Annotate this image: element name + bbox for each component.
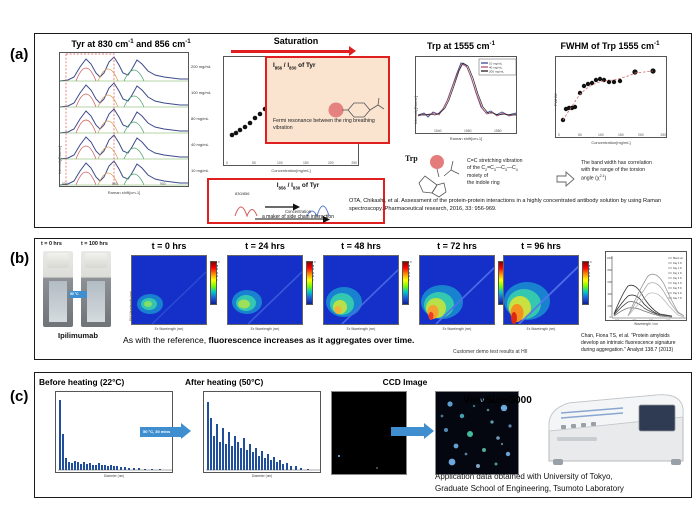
svg-text:500: 500 — [649, 319, 654, 322]
heatmap-1 — [227, 255, 303, 325]
panel-b: t = 0 hrs t = 100 hrs 50 °C Ipilimumab t… — [34, 238, 692, 360]
attribution-line-1: Application data obtained with Universit… — [435, 471, 689, 483]
heatmap-ylabel-0: EM Wavelength (nm) — [129, 291, 133, 321]
side-chain-caption: a maker of side chain interaction — [209, 214, 387, 220]
trp-spectra-title: Trp at 1555 cm-1 — [401, 40, 521, 51]
fermi-resonance-callout: I856 / I830 of Tyr Fermi resonance betwe… — [265, 56, 390, 144]
histogram-after-svg: 0100200 300400500 700900 — [204, 392, 321, 473]
tyr-spectra-xlabel: Raman shift[cm-1] — [59, 190, 189, 195]
fermi-callout-title: I856 / I830 of Tyr — [273, 62, 315, 70]
panel-b-caption: As with the reference, fluorescence incr… — [123, 335, 523, 345]
heatmap-svg-3 — [420, 256, 495, 325]
heatmap-xlabel-3: Ex Wavelength (nm) — [419, 327, 495, 331]
colorbar-ticks-0: 1.0.8.6.4.20 — [216, 261, 220, 282]
svg-text:400: 400 — [262, 472, 267, 473]
panel-label-b: (b) — [10, 250, 29, 267]
svg-text:700: 700 — [142, 472, 147, 473]
vial-after — [81, 251, 111, 327]
heatmap-4 — [503, 255, 579, 325]
heatmap-xlabel-4: Ex Wavelength (nm) — [503, 327, 579, 331]
svg-text:Blank sol.: Blank sol. — [673, 257, 684, 260]
tyr-spectra-svg — [60, 53, 189, 187]
panel-a-citation: OTA, Chikashi, et al. Assessment of the … — [349, 198, 685, 213]
implies-arrow-icon — [557, 172, 575, 186]
histogram-after-xlabel: Diameter (nm) — [203, 474, 321, 478]
demo-note: Customer demo test results at HII — [453, 349, 527, 355]
tyr-spectra-plot: 800 850 900 — [59, 52, 189, 187]
attribution-line-2: Graduate School of Engineering, Tsumoto … — [435, 483, 689, 495]
fluorescence-inset-plot: Blank sol. Day 0 hr Day 1 hr Day 2 hr Da… — [605, 251, 687, 321]
vial-liquid-after — [87, 281, 105, 322]
heatmap-title-3: t = 72 hrs — [417, 241, 497, 251]
vial-arrow-label: 50 °C — [70, 292, 79, 296]
tyrosine-structure-icon — [326, 92, 386, 126]
panel-b-reference: Chan, Fiona TS, et al. "Protein amyloids… — [581, 333, 687, 353]
ccd-arrow-tip — [424, 423, 434, 439]
after-heating-title: After heating (50°C) — [185, 377, 325, 387]
tyr-spectra-ylabel: Intensity[Norm.] — [57, 146, 62, 174]
svg-text:900: 900 — [160, 472, 165, 473]
panel-label-a: (a) — [10, 46, 28, 63]
side-chain-callout-title: I856 / I830 of Tyr — [209, 182, 387, 190]
tyr-trace-label-1: 100 mg/mL — [191, 90, 211, 95]
heatmap-title-1: t = 24 hrs — [225, 241, 305, 251]
panel-label-c: (c) — [10, 388, 28, 405]
panel-a: Tyr at 830 cm-1 and 856 cm-1 — [34, 33, 692, 228]
heating-arrow-tip — [181, 423, 191, 439]
fluorescence-inset-xlabel: Wavelength / nm — [605, 322, 687, 326]
heatmap-2 — [323, 255, 399, 325]
svg-text:200: 200 — [86, 472, 91, 473]
trp-spectra-plot: 10 mg/mL 40 mg/mL 200 mg/mL 1.0 0.5 0.0 … — [415, 56, 517, 134]
svg-text:Day 3 hr: Day 3 hr — [673, 277, 682, 280]
panel-c: Before heating (22°C) — [34, 372, 692, 498]
svg-text:900: 900 — [308, 472, 313, 473]
figure-root: (a) Tyr at 830 cm-1 and 856 cm-1 — [0, 0, 700, 525]
colorbar-ticks-1: 1.0.8.6.4.20 — [312, 261, 316, 282]
tyr-ratio-xlabel: Concentration[mg/mL] — [223, 168, 359, 173]
heatmap-svg-1 — [228, 256, 303, 325]
svg-text:500: 500 — [276, 472, 281, 473]
heatmap-3 — [419, 255, 495, 325]
fwhm-plot: 16 15 14 13 12 11 10 9 8 0 50 100 150 20… — [555, 56, 667, 138]
before-heating-title: Before heating (22°C) — [39, 377, 179, 387]
svg-text:1000: 1000 — [607, 256, 613, 260]
sample-name: Ipilimumab — [35, 331, 121, 340]
heatmap-xlabel-1: Ex Wavelength (nm) — [227, 327, 303, 331]
heating-arrow-label: 50 °C, 30 mins — [143, 429, 170, 434]
fwhm-correlation-text: The band width has correlationwith the r… — [581, 160, 685, 183]
svg-text:600: 600 — [666, 319, 671, 322]
heatmap-xlabel-2: Ex Wavelength (nm) — [323, 327, 399, 331]
tyr-trace-label-3: 40 mg/mL — [191, 142, 209, 147]
svg-text:100: 100 — [220, 472, 225, 473]
tyr-trace-label-0: 200 mg/mL — [191, 64, 211, 69]
vial-liquid-before — [49, 281, 67, 322]
svg-text:Day 2 hr: Day 2 hr — [673, 272, 682, 275]
caption-bold: fluorescence increases as it aggregates … — [209, 335, 415, 345]
svg-text:Day 1 hr: Day 1 hr — [673, 267, 682, 270]
heatmap-title-4: t = 96 hrs — [501, 241, 581, 251]
svg-text:400: 400 — [114, 472, 119, 473]
ccd-arrow-body — [391, 427, 425, 436]
ccd-dot — [376, 467, 378, 469]
heatmap-svg-2 — [324, 256, 399, 325]
heatmap-title-0: t = 0 hrs — [129, 241, 209, 251]
viewsizer-instrument-icon — [531, 391, 700, 465]
svg-text:700: 700 — [290, 472, 295, 473]
svg-text:Day 0 hr: Day 0 hr — [673, 262, 682, 265]
trp-spectra-svg: 10 mg/mL 40 mg/mL 200 mg/mL — [416, 57, 517, 134]
fluorescence-inset-svg: Blank sol. Day 0 hr Day 1 hr Day 2 hr Da… — [606, 252, 687, 321]
svg-text:200: 200 — [234, 472, 239, 473]
trp-spectra-xlabel: Raman shift[cm-1] — [415, 136, 517, 141]
svg-text:200 mg/mL: 200 mg/mL — [489, 70, 504, 74]
svg-text:600: 600 — [608, 280, 613, 284]
svg-text:300: 300 — [100, 472, 105, 473]
svg-text:800: 800 — [608, 268, 613, 272]
histogram-before-xlabel: Diameter (nm) — [55, 474, 173, 478]
trp-structure-label: Trp — [405, 154, 418, 163]
trp-spectra-ylabel: Intensity[Norm.] — [413, 96, 418, 124]
tyr-trace-label-2: 80 mg/mL — [191, 116, 209, 121]
fwhm-svg — [556, 57, 667, 138]
svg-text:Day 7 hr: Day 7 hr — [673, 297, 682, 300]
svg-text:500: 500 — [128, 472, 133, 473]
svg-text:Day 6 hr: Day 6 hr — [673, 292, 682, 295]
vial-left-label: t = 0 hrs — [41, 241, 62, 247]
colorbar-ticks-2: 1.0.8.6.4.20 — [408, 261, 412, 282]
tyr-spectra-title: Tyr at 830 cm-1 and 856 cm-1 — [41, 38, 221, 49]
svg-text:0: 0 — [206, 472, 208, 473]
svg-text:Day 5 hr: Day 5 hr — [673, 287, 682, 290]
saturation-arrow-line — [231, 50, 351, 53]
heatmap-0 — [131, 255, 207, 325]
svg-text:300: 300 — [615, 319, 620, 322]
saturation-arrow-tip — [349, 46, 356, 56]
ccd-image-title: CCD Image — [325, 377, 485, 387]
ccd-dot — [338, 455, 340, 457]
saturation-label: Saturation — [231, 36, 361, 46]
heatmap-title-2: t = 48 hrs — [321, 241, 401, 251]
histogram-after-plot: 0100200 300400500 700900 1.0e+08 7.5e+07… — [203, 391, 321, 473]
fwhm-xlabel: Concentration[mg/mL] — [555, 140, 667, 145]
colorbar-ticks-4: 1.0.8.6.4.20 — [588, 261, 592, 282]
svg-text:400: 400 — [632, 319, 637, 322]
svg-text:0: 0 — [610, 315, 612, 319]
caption-plain: As with the reference, — [123, 335, 209, 345]
svg-text:300: 300 — [248, 472, 253, 473]
vial-cap-after — [85, 253, 107, 268]
svg-text:200: 200 — [608, 304, 613, 308]
svg-text:Day 4 hr: Day 4 hr — [673, 282, 682, 285]
svg-text:0: 0 — [58, 472, 60, 473]
tyr-trace-label-4: 10 mg/mL — [191, 168, 209, 173]
svg-text:100: 100 — [72, 472, 77, 473]
vial-right-label: t = 100 hrs — [81, 241, 108, 247]
heatmap-svg-4 — [504, 256, 579, 325]
fwhm-ylabel: FWHM — [553, 94, 558, 106]
vial-cap-before — [47, 253, 69, 268]
vial-before — [43, 251, 73, 327]
fwhm-title: FWHM of Trp 1555 cm-1 — [535, 40, 685, 51]
svg-text:400: 400 — [608, 292, 613, 296]
heatmap-xlabel-0: Ex Wavelength (nm) — [131, 327, 207, 331]
trp-vibration-text: C=C stretching vibrationof the C2=C3—C3—… — [467, 158, 555, 187]
heatmap-svg-0 — [132, 256, 207, 325]
